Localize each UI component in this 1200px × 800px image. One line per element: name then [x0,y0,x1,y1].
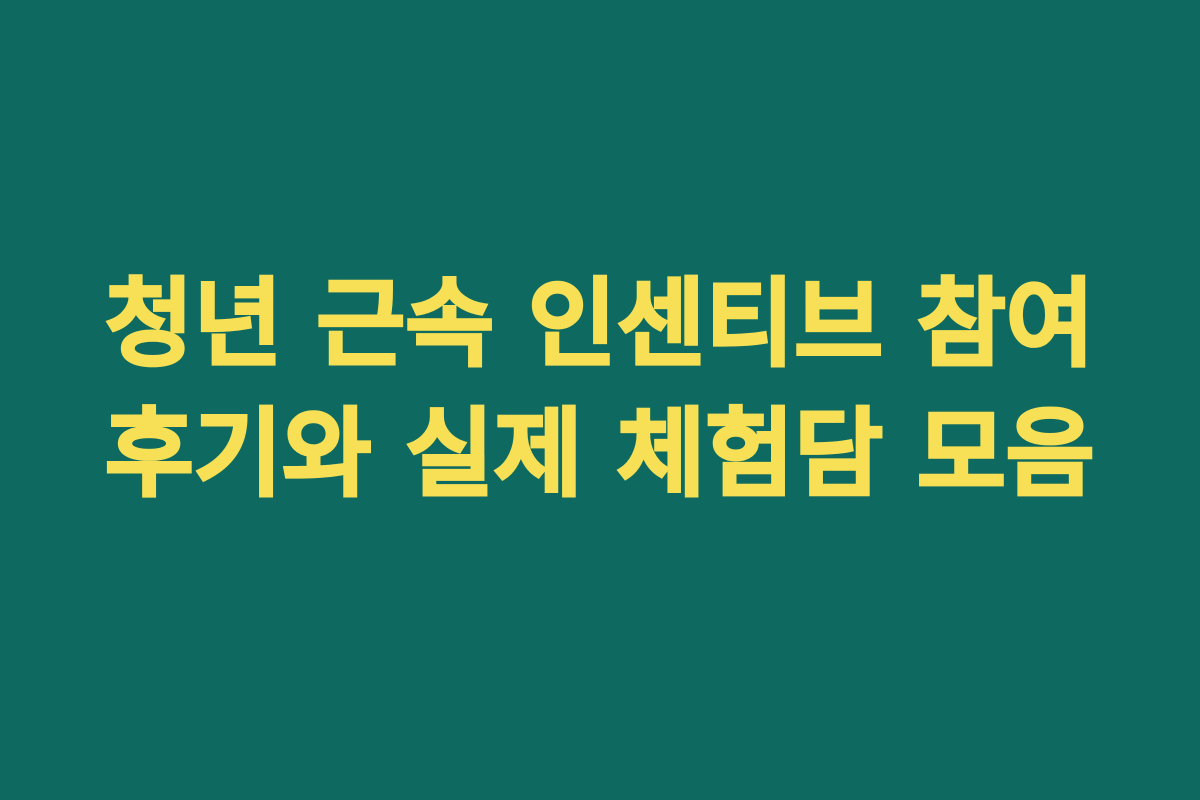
thumbnail-canvas: 청년 근속 인센티브 참여 후기와 실제 체험담 모음 [0,0,1200,800]
title-block: 청년 근속 인센티브 참여 후기와 실제 체험담 모음 [70,260,1130,519]
page-title: 청년 근속 인센티브 참여 후기와 실제 체험담 모음 [94,260,1106,519]
